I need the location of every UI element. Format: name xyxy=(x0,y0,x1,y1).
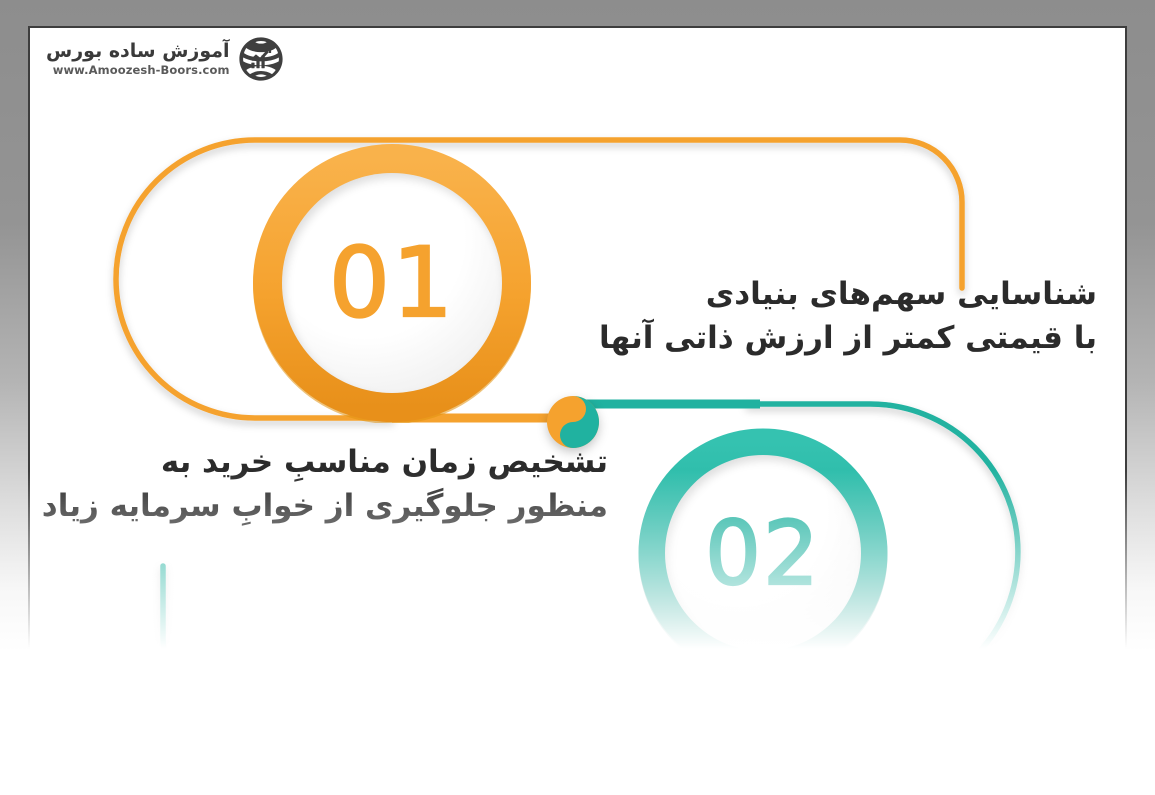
brand-text: آموزش ساده بورس www.Amoozesh-Boors.com xyxy=(46,41,230,77)
step-text-01-line-2: با قیمتی کمتر از ارزش ذاتی آنها xyxy=(527,316,1097,360)
brand-url: www.Amoozesh-Boors.com xyxy=(53,63,230,77)
step-badge-02: 02 xyxy=(638,428,888,678)
brand-name: آموزش ساده بورس xyxy=(46,41,230,62)
globe-bar-chart-icon xyxy=(238,36,284,82)
step-text-01: شناسایی سهم‌های بنیادی با قیمتی کمتر از … xyxy=(527,272,1097,360)
step-text-02-line-2: منظور جلوگیری از خوابِ سرمایه زیاد xyxy=(38,484,608,528)
brand-logo: آموزش ساده بورس www.Amoozesh-Boors.com xyxy=(46,36,284,82)
step-text-02-line-1: تشخیص زمان مناسبِ خرید به xyxy=(38,440,608,484)
step-text-01-line-1: شناسایی سهم‌های بنیادی xyxy=(527,272,1097,316)
step-badge-01: 01 xyxy=(252,143,532,423)
step-text-02: تشخیص زمان مناسبِ خرید به منظور جلوگیری … xyxy=(38,440,608,528)
step-number-01: 01 xyxy=(252,143,532,423)
step-number-02: 02 xyxy=(638,428,888,678)
infographic-page: آموزش ساده بورس www.Amoozesh-Boors.com 0… xyxy=(0,0,1155,795)
